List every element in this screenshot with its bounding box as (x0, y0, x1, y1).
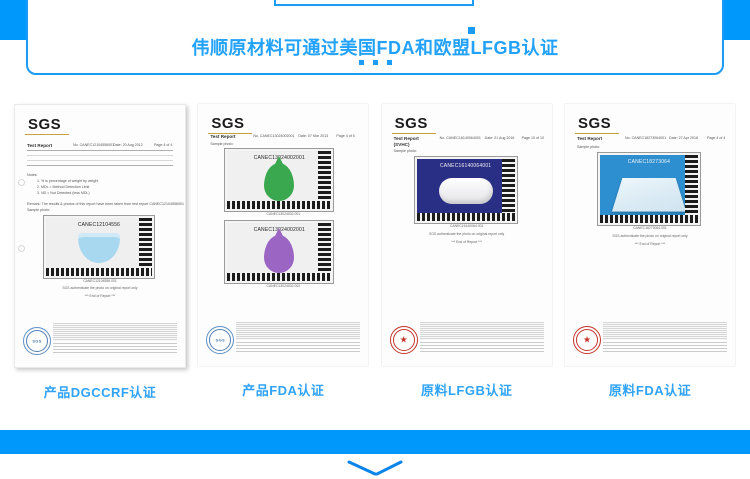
note-2: 2. MDL = Method Detection Limit (37, 185, 89, 189)
ruler-horizontal (600, 215, 698, 223)
sample-object-bowl (78, 233, 120, 263)
sample-photo-label: Sample photo: (394, 149, 417, 153)
authenticate-note: SGS authenticate the photo on original r… (382, 232, 552, 236)
report-title: Test Report (394, 136, 419, 141)
footer-fine-lines (53, 343, 177, 355)
sample-photo-purple: CANEC13024002001 (224, 220, 334, 284)
certificate-card-4[interactable]: SGS Test Report No. CANEC18273064001 Dat… (564, 104, 736, 404)
footer-stamp-zone: ★ (571, 322, 729, 356)
sample-photo-label: Sample photo: (210, 142, 233, 146)
report-number: No. CANEC12104556001 (73, 143, 114, 147)
footer-fine-lines (236, 342, 360, 354)
footer-fine-lines (603, 342, 727, 354)
sgs-round-stamp: SGS (206, 326, 234, 354)
end-of-report-note: *** End of Report *** (565, 242, 735, 246)
chevron-down-icon[interactable] (347, 460, 403, 476)
sample-object-white-case (439, 178, 493, 204)
bottom-blue-bar (0, 430, 750, 454)
sample-photo-label: Sample photo: (27, 208, 50, 212)
authenticate-note: SGS authenticate the photo on original r… (15, 286, 185, 290)
ruler-horizontal (417, 213, 515, 221)
red-star-seal: ★ (573, 326, 601, 354)
footer-stamp-zone: ★ (388, 322, 546, 356)
report-remark: Remark: The results & photos of this rep… (27, 202, 184, 206)
sample-photo-code: CANEC18273064 (600, 159, 698, 165)
footer-text-block (53, 323, 177, 341)
sgs-logo: SGS (211, 115, 244, 132)
footer-text-block (420, 322, 544, 340)
end-of-report-note: *** End of Report *** (382, 240, 552, 244)
page-subtitle: 伟顺原材料可通过美国FDA和欧盟LFGB认证 (0, 34, 750, 60)
ruler-horizontal (227, 201, 331, 209)
report-date: Date: 27 Apr 2018 (669, 136, 698, 140)
sample-object-sheet (612, 178, 686, 212)
certificate-grid: SGS Test Report No. CANEC12104556001 Dat… (0, 104, 750, 404)
certificate-image-3[interactable]: SGS Test Report (SVHC) No. CANEC16140064… (382, 104, 552, 366)
ruler-horizontal (46, 268, 152, 276)
sgs-round-stamp: SGS (23, 327, 51, 355)
footer-text-block (603, 322, 727, 340)
sgs-logo: SGS (395, 115, 428, 132)
footer-fine-lines (420, 342, 544, 354)
page-header: 检测证书 伟顺原材料可通过美国FDA和欧盟LFGB认证 (0, 0, 750, 95)
note-3: 3. ND = Not Detected (less MDL) (37, 191, 90, 195)
report-number: No. CANEC18273064001 (625, 136, 666, 140)
sample-object-green-drop (264, 163, 294, 201)
sample-photo-green: CANEC13024002001 (224, 148, 334, 212)
report-date: Date: 07 Mar 2013 (298, 134, 328, 138)
authenticate-note: SGS authenticate the photo on original r… (565, 234, 735, 238)
report-number: No. CANEC13024002001 (253, 134, 294, 138)
punch-hole (18, 245, 25, 252)
sample-photo-caption: CANEC12104556.001 (15, 279, 185, 283)
sample-photo-1: CANEC12104556 (43, 215, 155, 279)
certificate-caption-2: 产品FDA认证 (242, 380, 324, 399)
stamp-label: SGS (216, 338, 225, 343)
title-accent-square (468, 27, 475, 34)
certificate-caption-3: 原料LFGB认证 (421, 380, 512, 399)
report-number: No. CANEC16140064001 (440, 136, 481, 140)
sample-photo-caption: CANEC13024002.002 (198, 284, 368, 288)
stamp-label: SGS (32, 339, 41, 344)
note-1: 1. % is percentage of weight by weight (37, 179, 98, 183)
certificate-caption-1: 产品DGCCRF认证 (44, 382, 157, 401)
ruler-vertical (502, 159, 515, 221)
ruler-vertical (685, 155, 698, 223)
certificate-caption-4: 原料FDA认证 (609, 380, 691, 399)
report-date: Date: 20 Aug 2012 (113, 143, 143, 147)
report-title: Test Report (577, 136, 602, 141)
certificate-image-2[interactable]: SGS Test Report No. CANEC13024002001 Dat… (198, 104, 368, 366)
report-page: Page 4 of 4 (707, 136, 725, 140)
certificate-card-2[interactable]: SGS Test Report No. CANEC13024002001 Dat… (197, 104, 369, 404)
report-title-sub: (SVHC) (394, 142, 410, 147)
sgs-logo: SGS (28, 116, 61, 133)
sample-photo-code: CANEC16140064001 (417, 163, 515, 169)
report-title: Test Report (210, 134, 235, 139)
punch-hole (18, 179, 25, 186)
star-icon: ★ (400, 336, 408, 345)
ruler-horizontal (227, 273, 331, 281)
red-star-seal: ★ (390, 326, 418, 354)
sample-object-purple-drop (264, 235, 294, 273)
sample-photo-4: CANEC18273064 (597, 152, 701, 226)
dot-3 (387, 60, 392, 65)
certificate-card-1[interactable]: SGS Test Report No. CANEC12104556001 Dat… (14, 104, 186, 404)
sample-photo-caption: CANEC18273064.001 (565, 226, 735, 230)
report-page: Page 4 of 4 (154, 143, 172, 147)
footer-text-block (236, 322, 360, 340)
footer-stamp-zone: SGS (21, 323, 179, 357)
certificate-image-4[interactable]: SGS Test Report No. CANEC18273064001 Dat… (565, 104, 735, 366)
star-icon: ★ (583, 336, 591, 345)
section-title-box: 检测证书 (274, 0, 474, 6)
report-title: Test Report (27, 143, 52, 148)
sample-photo-label: Sample photo: (577, 145, 600, 149)
sample-photo-3: CANEC16140064001 (414, 156, 518, 224)
end-of-report-note: *** End of Report *** (15, 294, 185, 298)
report-date: Date: 21 Aug 2016 (485, 136, 515, 140)
sgs-logo: SGS (578, 115, 611, 132)
dot-1 (359, 60, 364, 65)
page-title: 检测证书 (326, 0, 422, 1)
sample-photo-caption: CANEC13024002.001 (198, 212, 368, 216)
report-page: Page 4 of 5 (336, 134, 354, 138)
report-page: Page 10 of 10 (522, 136, 544, 140)
certificate-image-1[interactable]: SGS Test Report No. CANEC12104556001 Dat… (14, 104, 186, 368)
dot-2 (373, 60, 378, 65)
footer-stamp-zone: SGS (204, 322, 362, 356)
sample-photo-code: CANEC12104556 (46, 222, 152, 228)
decorative-dot-row (0, 60, 750, 65)
notes-label: Notes: (27, 173, 37, 177)
sample-photo-caption: CANEC16140064.001 (382, 224, 552, 228)
certificate-card-3[interactable]: SGS Test Report (SVHC) No. CANEC16140064… (381, 104, 553, 404)
